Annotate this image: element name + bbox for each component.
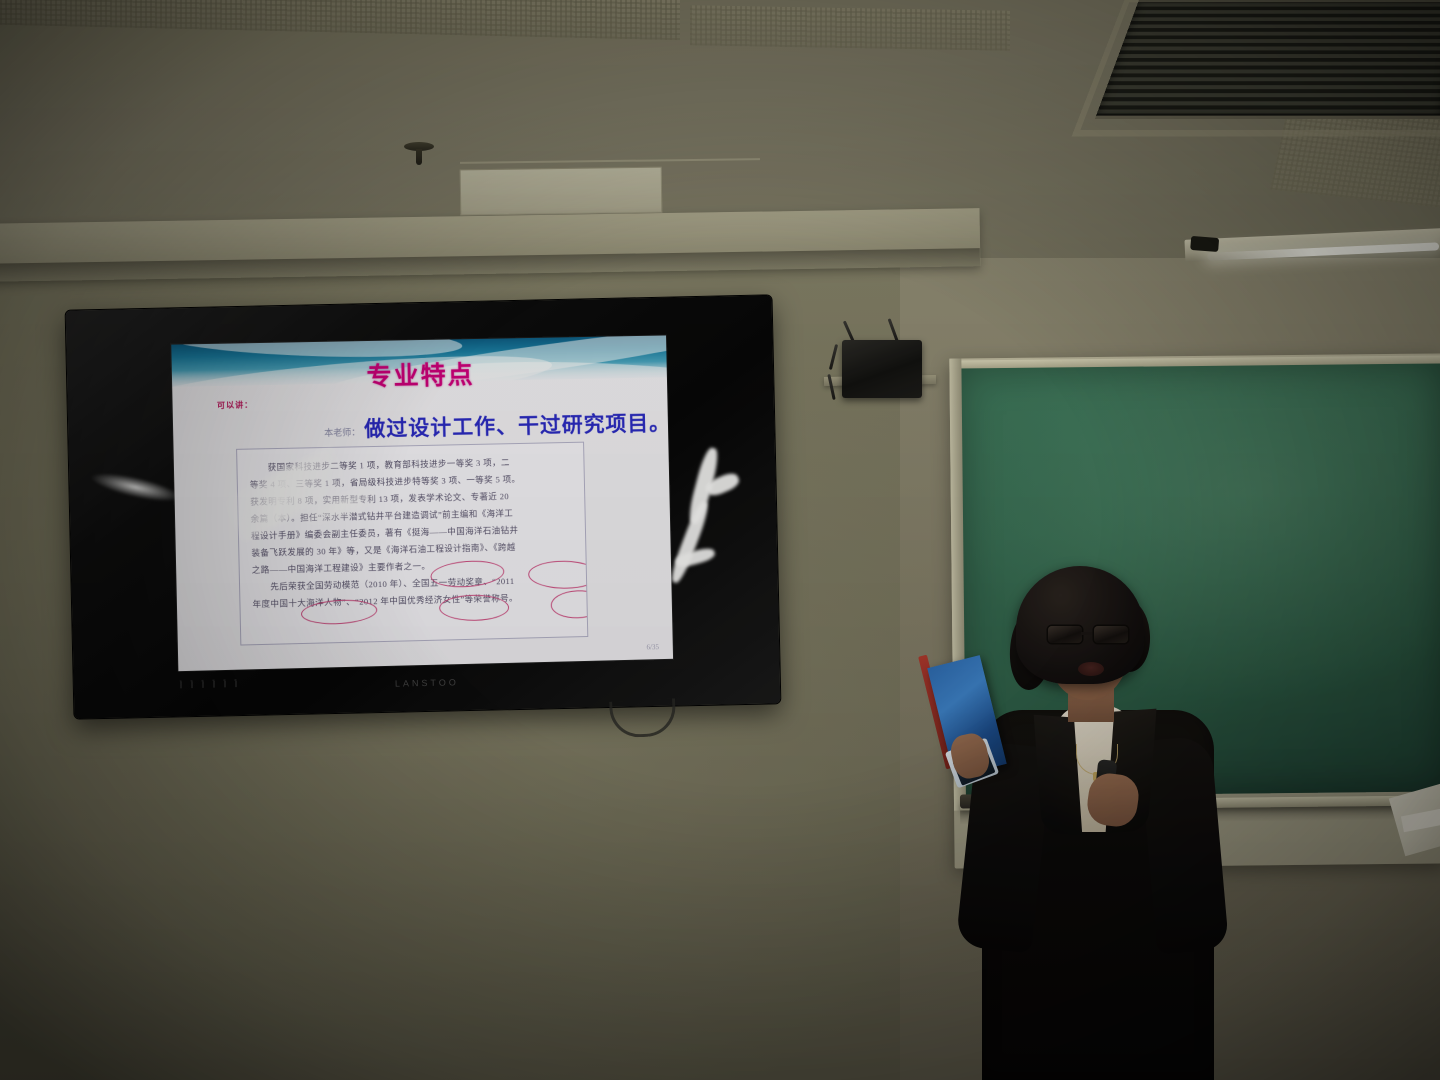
slide-headline-prefix: 本老师：	[324, 427, 360, 438]
slide-tag-label: 可以讲：	[217, 399, 253, 411]
light-endcap	[1190, 236, 1219, 252]
display-indicator-leds	[180, 679, 240, 688]
document-excerpt-box: 获国家科技进步二等奖 1 项，教育部科技进步一等奖 3 项，二 等奖 4 项、三…	[236, 442, 588, 646]
slide-page-number: 6/35	[647, 643, 660, 651]
presenter-mouth	[1078, 662, 1104, 676]
presenter-figure	[930, 548, 1250, 1080]
classroom-photo-scene: 专业特点 可以讲： 本老师：做过设计工作、干过研究项目。 获国家科技进步二等奖 …	[0, 0, 1440, 1080]
wireless-router-icon	[834, 318, 930, 400]
display-screen[interactable]: 专业特点 可以讲： 本老师：做过设计工作、干过研究项目。 获国家科技进步二等奖 …	[171, 335, 673, 671]
bezel-glare-reflection	[671, 446, 754, 598]
sprinkler-stem	[416, 149, 422, 165]
presentation-slide: 专业特点 可以讲： 本老师：做过设计工作、干过研究项目。 获国家科技进步二等奖 …	[171, 335, 673, 671]
air-vent-frame	[1072, 0, 1440, 136]
sunglasses-lens	[1048, 626, 1082, 643]
sunglasses-icon	[1048, 626, 1130, 643]
display-brand-logo: LANSTOO	[395, 677, 459, 688]
sunglasses-lens	[1094, 626, 1128, 643]
wall-mounted-display[interactable]: 专业特点 可以讲： 本老师：做过设计工作、干过研究项目。 获国家科技进步二等奖 …	[66, 295, 781, 718]
presenter-jacket-lapel	[1034, 715, 1083, 836]
recessed-vent-cover	[460, 167, 663, 216]
router-body	[842, 340, 922, 398]
fire-sprinkler-icon	[404, 142, 434, 166]
slide-headline-text: 做过设计工作、干过研究项目。	[364, 411, 671, 441]
acoustic-ceiling-panel	[690, 5, 1010, 51]
slide-headline-row: 本老师：做过设计工作、干过研究项目。	[324, 407, 663, 444]
